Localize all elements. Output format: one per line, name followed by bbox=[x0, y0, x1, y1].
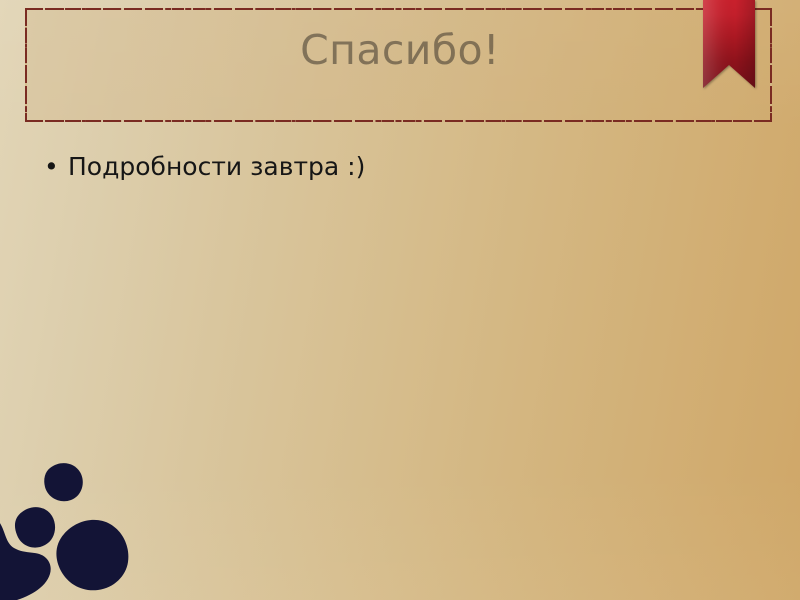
bullet-text: Подробности завтра :) bbox=[68, 150, 744, 183]
bullet-marker-icon: • bbox=[44, 150, 68, 183]
ink-blot-icon bbox=[0, 456, 150, 600]
title-box-dashed-border bbox=[25, 8, 772, 122]
list-item: • Подробности завтра :) bbox=[44, 150, 744, 183]
body-bullet-list[interactable]: • Подробности завтра :) bbox=[44, 150, 744, 189]
bookmark-ribbon-icon bbox=[703, 0, 755, 88]
title-placeholder-box[interactable] bbox=[25, 8, 772, 122]
slide-canvas: Спасибо! bbox=[0, 0, 800, 600]
